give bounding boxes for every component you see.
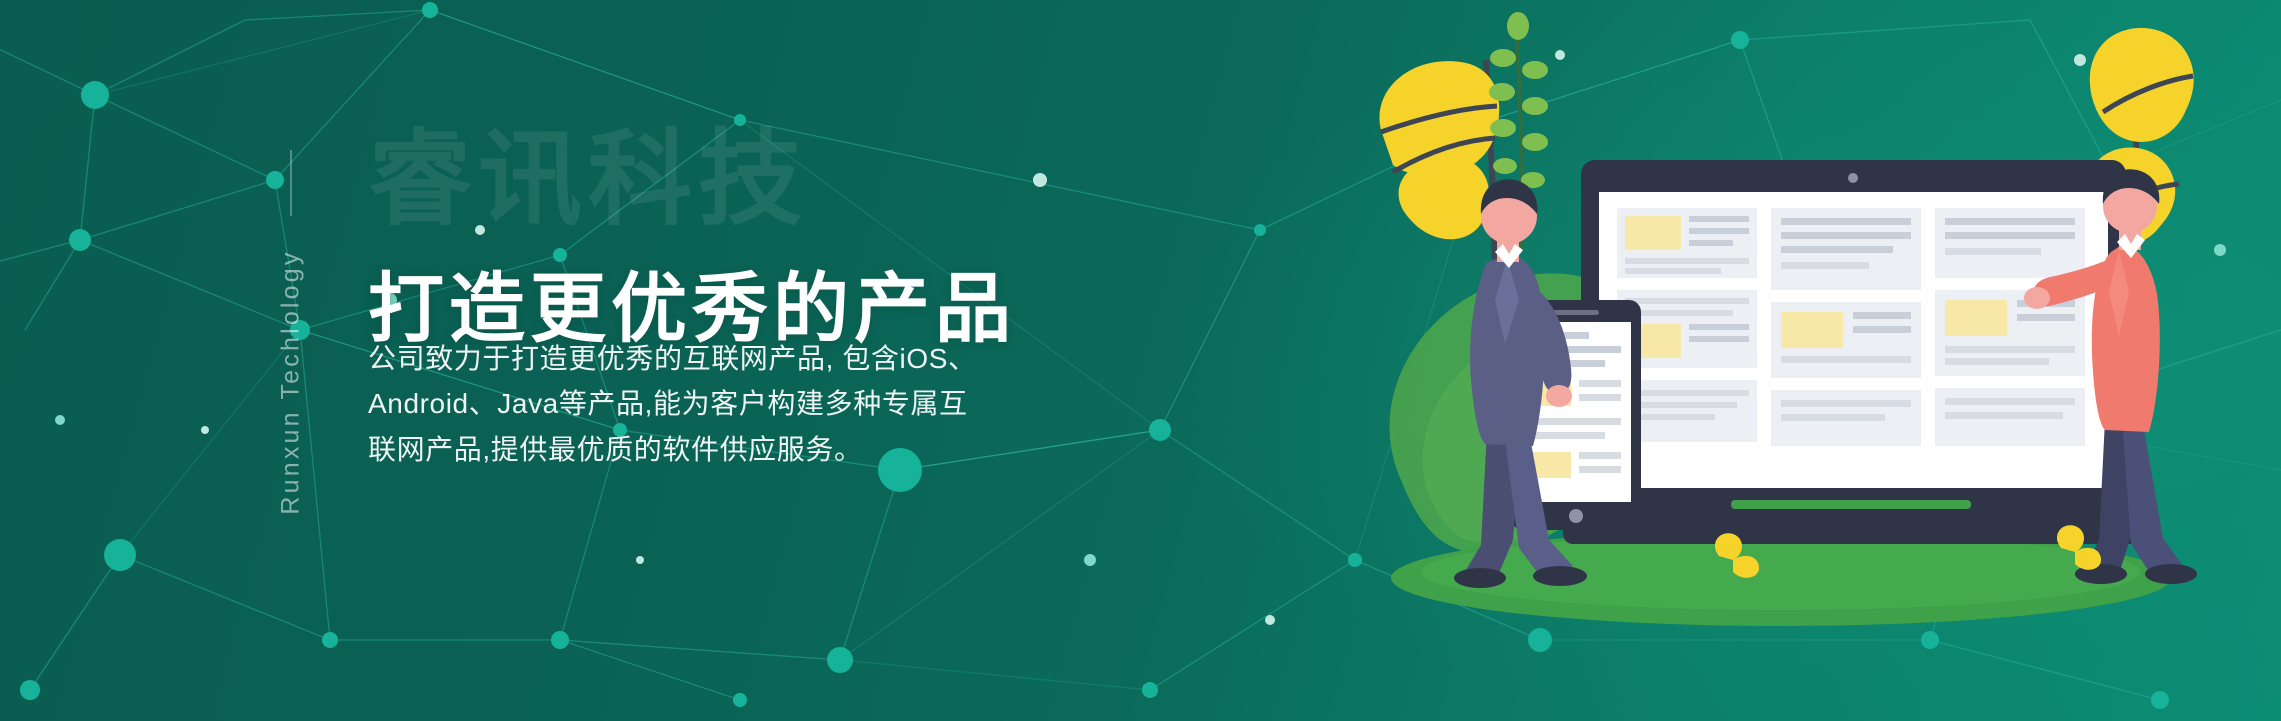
- vertical-divider-line: [290, 150, 292, 216]
- laptop-screen-with-documents: [1563, 160, 2143, 544]
- ginkgo-leaf-plant-left: [1379, 12, 1548, 300]
- watermark-company-name: 睿讯科技: [368, 128, 808, 232]
- banner-description: 公司致力于打造更优秀的互联网产品, 包含iOS、 Android、Java等产品…: [368, 336, 1168, 472]
- hero-banner: .ln{stroke:#2fbfa6;stroke-opacity:.42;st…: [0, 0, 2281, 721]
- team-building-products-illustration: [1281, 0, 2281, 721]
- description-line: 联网产品,提供最优质的软件供应服务。: [368, 427, 1168, 472]
- description-line: 公司致力于打造更优秀的互联网产品, 包含iOS、: [368, 336, 1168, 381]
- description-line: Android、Java等产品,能为客户构建多种专属互: [368, 381, 1168, 426]
- brand-vertical-text: Runxun Techlology: [277, 249, 306, 514]
- brand-vertical-text-wrapper: Runxun Techlology: [268, 150, 314, 550]
